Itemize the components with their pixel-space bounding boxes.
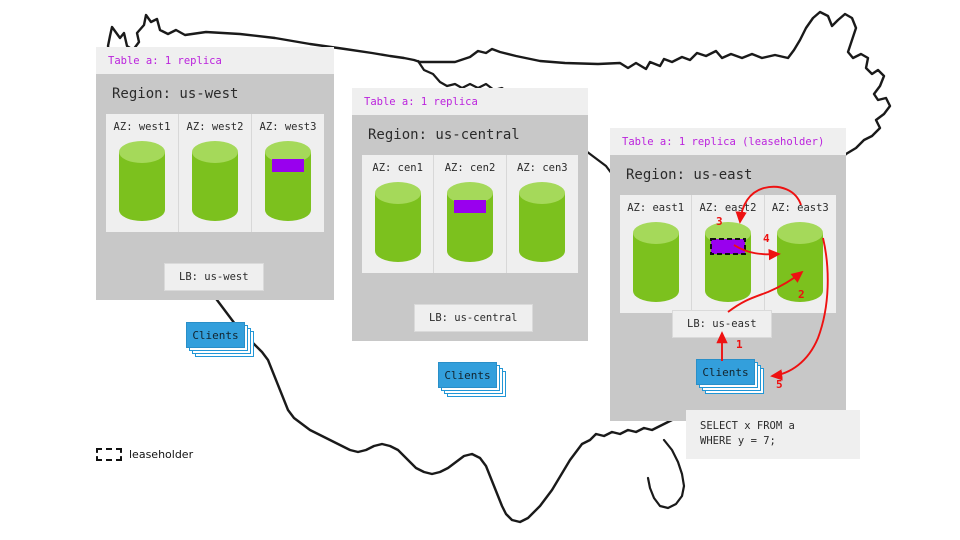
az-cell-west2[interactable]: AZ: west2	[178, 114, 251, 232]
cylinder-east2	[702, 221, 754, 307]
clients-label[interactable]: Clients	[696, 359, 755, 385]
step-label-2: 2	[798, 288, 805, 301]
az-label-east2: AZ: east2	[692, 202, 763, 214]
region-title-us-central: Region: us-central	[362, 115, 578, 155]
az-label-cen3: AZ: cen3	[507, 162, 578, 174]
legend-label: leaseholder	[129, 448, 193, 461]
az-label-cen1: AZ: cen1	[362, 162, 433, 174]
cylinder-cen3	[516, 181, 568, 267]
leaseholder-replica-block	[711, 239, 745, 254]
step-label-3: 3	[716, 215, 723, 228]
cylinder-icon	[116, 140, 168, 222]
step-label-4: 4	[763, 232, 770, 245]
clients-us-east[interactable]: Clients	[696, 359, 755, 385]
cylinder-icon	[702, 221, 754, 303]
region-card-us-central: Table a: 1 replica Region: us-central AZ…	[352, 88, 588, 341]
region-header-us-east: Table a: 1 replica (leaseholder)	[610, 128, 846, 155]
clients-label[interactable]: Clients	[438, 362, 497, 388]
region-card-us-east: Table a: 1 replica (leaseholder) Region:…	[610, 128, 846, 421]
az-label-west2: AZ: west2	[179, 121, 251, 133]
cylinder-west2	[189, 140, 241, 226]
az-cell-cen1[interactable]: AZ: cen1	[362, 155, 433, 273]
clients-us-central[interactable]: Clients	[438, 362, 497, 388]
lb-us-east[interactable]: LB: us-east	[672, 310, 772, 338]
step-label-1: 1	[736, 338, 743, 351]
az-cell-west3[interactable]: AZ: west3	[251, 114, 324, 232]
region-header-us-west: Table a: 1 replica	[96, 47, 334, 74]
region-title-us-west: Region: us-west	[106, 74, 324, 114]
cylinder-icon	[630, 221, 682, 303]
az-cell-east1[interactable]: AZ: east1	[620, 195, 691, 313]
cylinder-west1	[116, 140, 168, 226]
clients-us-west[interactable]: Clients	[186, 322, 245, 348]
region-card-us-west: Table a: 1 replica Region: us-west AZ: w…	[96, 47, 334, 300]
step-label-5: 5	[776, 378, 783, 391]
az-label-west3: AZ: west3	[252, 121, 324, 133]
cylinder-east1	[630, 221, 682, 307]
az-cell-east2[interactable]: AZ: east2	[691, 195, 763, 313]
clients-label[interactable]: Clients	[186, 322, 245, 348]
cylinder-west3	[262, 140, 314, 226]
az-label-cen2: AZ: cen2	[434, 162, 505, 174]
region-title-us-east: Region: us-east	[620, 155, 836, 195]
az-strip-us-west: AZ: west1 AZ: west2	[106, 114, 324, 232]
lb-us-central[interactable]: LB: us-central	[414, 304, 533, 332]
cylinder-cen2	[444, 181, 496, 267]
cylinder-icon	[189, 140, 241, 222]
replica-block	[272, 159, 304, 172]
az-cell-cen3[interactable]: AZ: cen3	[506, 155, 578, 273]
cylinder-icon	[516, 181, 568, 263]
cylinder-icon	[372, 181, 424, 263]
region-header-us-central: Table a: 1 replica	[352, 88, 588, 115]
lb-us-west[interactable]: LB: us-west	[164, 263, 264, 291]
leaseholder-dashed-icon	[96, 448, 122, 461]
az-strip-us-central: AZ: cen1 AZ: cen2	[362, 155, 578, 273]
az-label-east1: AZ: east1	[620, 202, 691, 214]
cylinder-icon	[262, 140, 314, 222]
replica-block	[454, 200, 486, 213]
sql-query-box: SELECT x FROM a WHERE y = 7;	[686, 410, 860, 459]
az-cell-west1[interactable]: AZ: west1	[106, 114, 178, 232]
az-cell-cen2[interactable]: AZ: cen2	[433, 155, 505, 273]
cylinder-cen1	[372, 181, 424, 267]
az-label-east3: AZ: east3	[765, 202, 836, 214]
florida-path	[648, 440, 684, 508]
diagram-canvas: Table a: 1 replica Region: us-west AZ: w…	[0, 0, 960, 540]
legend: leaseholder	[96, 448, 193, 461]
az-label-west1: AZ: west1	[106, 121, 178, 133]
cylinder-icon	[444, 181, 496, 263]
